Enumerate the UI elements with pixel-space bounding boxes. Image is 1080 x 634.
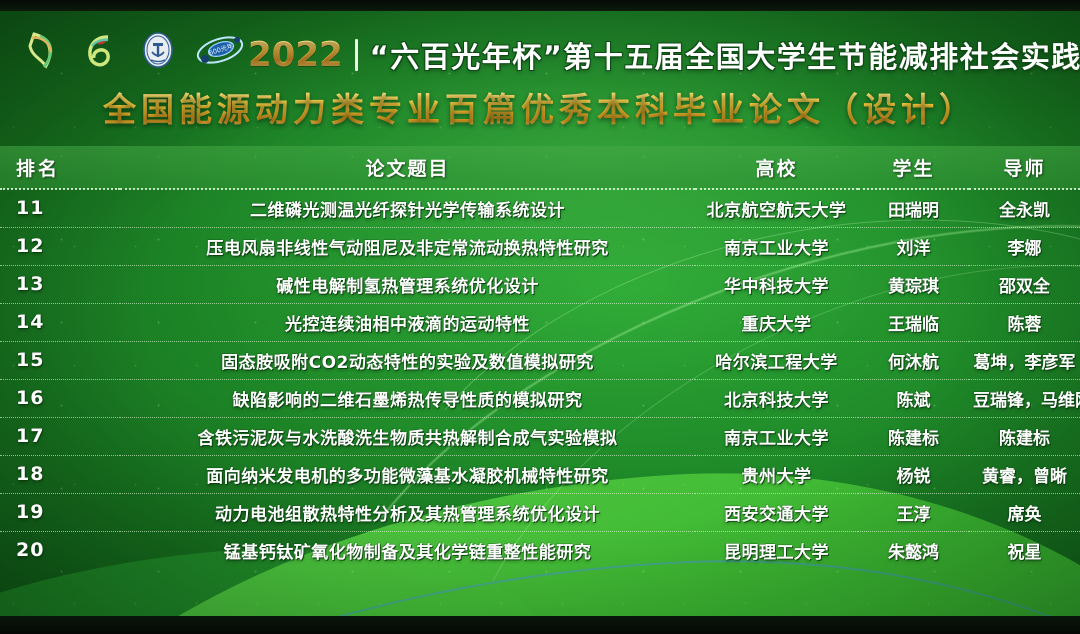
column-header-title: 论文题目: [120, 146, 695, 189]
table-row: 19动力电池组散热特性分析及其热管理系统优化设计西安交通大学王淳席奂: [0, 493, 1080, 531]
cell-student: 黄琮琪: [858, 265, 969, 303]
cell-student: 杨锐: [858, 455, 969, 493]
cell-title: 锰基钙钛矿氧化物制备及其化学链重整性能研究: [120, 531, 695, 569]
logo-group: 600光年: [20, 28, 238, 72]
cell-title: 面向纳米发电机的多功能微藻基水凝胶机械特性研究: [120, 455, 695, 493]
banner-year: 2022: [248, 35, 343, 75]
cell-advisor: 葛坤，李彦军: [969, 341, 1080, 379]
cell-rank: 11: [0, 189, 120, 227]
cell-university: 北京科技大学: [695, 379, 858, 417]
cell-student: 刘洋: [858, 227, 969, 265]
letterbox-bottom: [0, 616, 1080, 634]
table-row: 14光控连续油相中液滴的运动特性重庆大学王瑞临陈蓉: [0, 303, 1080, 341]
slide-screen: 600光年 2022 “六百光年杯”第十五届全国大学生节能减排社会实践与科技竞赛…: [0, 0, 1080, 634]
cell-university: 华中科技大学: [695, 265, 858, 303]
cell-title: 固态胺吸附CO2动态特性的实验及数值模拟研究: [120, 341, 695, 379]
table-row: 12压电风扇非线性气动阻尼及非定常流动换热特性研究南京工业大学刘洋李娜: [0, 227, 1080, 265]
table-row: 18面向纳米发电机的多功能微藻基水凝胶机械特性研究贵州大学杨锐黄睿，曾晰: [0, 455, 1080, 493]
cell-title: 二维磷光测温光纤探针光学传输系统设计: [120, 189, 695, 227]
cell-rank: 18: [0, 455, 120, 493]
cell-title: 碱性电解制氢热管理系统优化设计: [120, 265, 695, 303]
cell-advisor: 席奂: [969, 493, 1080, 531]
cell-advisor: 祝星: [969, 531, 1080, 569]
logo-number-six-icon: [78, 28, 122, 72]
table-row: 13碱性电解制氢热管理系统优化设计华中科技大学黄琮琪邵双全: [0, 265, 1080, 303]
cell-advisor: 邵双全: [969, 265, 1080, 303]
cell-student: 王淳: [858, 493, 969, 531]
cell-student: 田瑞明: [858, 189, 969, 227]
column-header-university: 高校: [695, 146, 858, 189]
cell-advisor: 陈蓉: [969, 303, 1080, 341]
cell-university: 南京工业大学: [695, 417, 858, 455]
banner-subtitle: 全国能源动力类专业百篇优秀本科毕业论文（设计）: [0, 83, 1080, 131]
column-header-student: 学生: [858, 146, 969, 189]
column-header-advisor: 导师: [969, 146, 1080, 189]
cell-title: 动力电池组散热特性分析及其热管理系统优化设计: [120, 493, 695, 531]
cell-rank: 17: [0, 417, 120, 455]
table-row: 15固态胺吸附CO2动态特性的实验及数值模拟研究哈尔滨工程大学何沐航葛坤，李彦军: [0, 341, 1080, 379]
banner-main-title: “六百光年杯”第十五届全国大学生节能减排社会实践与科技竞赛: [370, 34, 1080, 76]
results-table-body: 11二维磷光测温光纤探针光学传输系统设计北京航空航天大学田瑞明全永凯12压电风扇…: [0, 189, 1080, 569]
table-row: 20锰基钙钛矿氧化物制备及其化学链重整性能研究昆明理工大学朱懿鸿祝星: [0, 531, 1080, 569]
table-row: 17含铁污泥灰与水洗酸洗生物质共热解制合成气实验模拟南京工业大学陈建标陈建标: [0, 417, 1080, 455]
cell-advisor: 李娜: [969, 227, 1080, 265]
table-row: 11二维磷光测温光纤探针光学传输系统设计北京航空航天大学田瑞明全永凯: [0, 189, 1080, 227]
column-header-rank: 排名: [0, 146, 120, 189]
cell-title: 光控连续油相中液滴的运动特性: [120, 303, 695, 341]
cell-student: 何沐航: [858, 341, 969, 379]
results-table-wrapper: 排名 论文题目 高校 学生 导师 11二维磷光测温光纤探针光学传输系统设计北京航…: [0, 146, 1080, 569]
cell-rank: 20: [0, 531, 120, 569]
letterbox-top: [0, 0, 1080, 11]
cell-university: 重庆大学: [695, 303, 858, 341]
cell-title: 缺陷影响的二维石墨烯热传导性质的模拟研究: [120, 379, 695, 417]
results-table: 排名 论文题目 高校 学生 导师 11二维磷光测温光纤探针光学传输系统设计北京航…: [0, 146, 1080, 569]
banner-divider: [355, 39, 358, 71]
logo-green-ribbon-icon: [20, 28, 64, 72]
cell-rank: 15: [0, 341, 120, 379]
cell-student: 王瑞临: [858, 303, 969, 341]
table-header-row: 排名 论文题目 高校 学生 导师: [0, 146, 1080, 189]
cell-advisor: 全永凯: [969, 189, 1080, 227]
cell-rank: 13: [0, 265, 120, 303]
cell-student: 朱懿鸿: [858, 531, 969, 569]
event-banner: 600光年 2022 “六百光年杯”第十五届全国大学生节能减排社会实践与科技竞赛…: [0, 11, 1080, 136]
cell-rank: 19: [0, 493, 120, 531]
logo-600-light-year-icon: 600光年: [194, 28, 238, 72]
cell-university: 南京工业大学: [695, 227, 858, 265]
cell-university: 哈尔滨工程大学: [695, 341, 858, 379]
cell-rank: 16: [0, 379, 120, 417]
cell-advisor: 豆瑞锋，马维刚: [969, 379, 1080, 417]
cell-university: 贵州大学: [695, 455, 858, 493]
cell-university: 北京航空航天大学: [695, 189, 858, 227]
cell-title: 含铁污泥灰与水洗酸洗生物质共热解制合成气实验模拟: [120, 417, 695, 455]
results-table-head: 排名 论文题目 高校 学生 导师: [0, 146, 1080, 189]
cell-student: 陈建标: [858, 417, 969, 455]
cell-advisor: 黄睿，曾晰: [969, 455, 1080, 493]
cell-advisor: 陈建标: [969, 417, 1080, 455]
banner-title-row: 2022 “六百光年杯”第十五届全国大学生节能减排社会实践与科技竞赛: [248, 32, 1080, 78]
logo-university-seal-icon: [136, 28, 180, 72]
table-row: 16缺陷影响的二维石墨烯热传导性质的模拟研究北京科技大学陈斌豆瑞锋，马维刚: [0, 379, 1080, 417]
cell-university: 西安交通大学: [695, 493, 858, 531]
cell-university: 昆明理工大学: [695, 531, 858, 569]
cell-title: 压电风扇非线性气动阻尼及非定常流动换热特性研究: [120, 227, 695, 265]
cell-rank: 12: [0, 227, 120, 265]
cell-rank: 14: [0, 303, 120, 341]
cell-student: 陈斌: [858, 379, 969, 417]
